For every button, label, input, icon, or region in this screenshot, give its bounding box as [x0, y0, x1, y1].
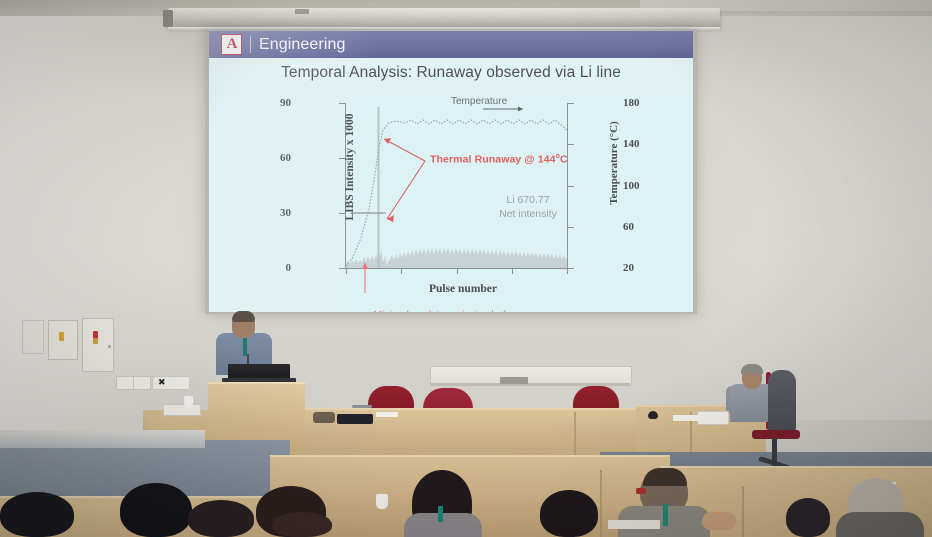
brand-divider: [250, 36, 251, 53]
right-ticklabel-140: 140: [623, 138, 663, 150]
cabinet-handle: [108, 345, 111, 348]
temperature-legend-label: Temperature: [451, 96, 507, 107]
paper-cup-1: [376, 494, 388, 509]
li-series-note: Li 670.77 Net intensity: [473, 193, 583, 221]
college-name: Engineering: [259, 36, 346, 54]
logo-letter: A: [227, 37, 237, 52]
screen-housing-endcap: [163, 10, 173, 27]
cup-on-side-table: [184, 396, 193, 407]
attendee-front-lanyard: [663, 504, 668, 526]
university-of-arizona-a-logo: A: [221, 34, 242, 55]
desk-papers: [376, 412, 398, 417]
wall-poster: [22, 320, 44, 354]
right-ticklabel-20: 20: [623, 262, 663, 274]
libs-intensity-series: [346, 107, 567, 268]
audience-head-7: [786, 498, 830, 537]
right-ticklabel-180: 180: [623, 97, 663, 109]
desk-cable: [352, 405, 372, 408]
whiteboard-ledge-object: [500, 377, 528, 384]
audience-shoulders-4: [404, 513, 482, 537]
wall-light-gradient-right: [672, 0, 932, 420]
slide-title: Temporal Analysis: Runaway observed via …: [209, 64, 693, 82]
speaker-lanyard: [243, 336, 247, 356]
switch-marking-icon: ✖: [158, 377, 166, 387]
light-switch-2[interactable]: [133, 376, 151, 390]
audience-shoulders-gray: [836, 512, 924, 537]
chart: 90 60 30 0 180 140 100 60 20 0 3000 6000: [301, 97, 593, 277]
runaway-text: Thermal Runaway @ 144: [430, 154, 556, 166]
temperature-leader-arrow: [518, 107, 523, 112]
runaway-unit-tail: C: [560, 154, 568, 166]
name-card: [697, 411, 729, 425]
light-switch-1[interactable]: [116, 376, 134, 390]
desk-seam-1: [574, 412, 576, 460]
attendee-hand: [702, 512, 736, 530]
audience-head-5: [272, 512, 332, 537]
audience-head-2: [188, 500, 254, 537]
lecture-hall-photo: ✖ A Engineering Temporal Analysis: Runaw…: [0, 0, 932, 537]
right-ticklabel-60: 60: [623, 221, 663, 233]
projector-screen-housing: [168, 8, 720, 28]
warning-sign-3-icon: [93, 338, 98, 344]
caption-line-1: Minimal analyte emission before: [301, 309, 593, 312]
audience-head-6: [540, 490, 598, 537]
runaway-arrowhead-upper: [384, 138, 391, 144]
audience-desk-seam-1: [600, 470, 602, 537]
left-ticklabel-90: 90: [251, 97, 291, 109]
slide-header-band: A Engineering: [209, 31, 693, 58]
minimal-emission-caption: Minimal analyte emission before thermal …: [301, 309, 593, 312]
audience-head-1: [120, 483, 192, 537]
audience-lanyard: [438, 506, 443, 522]
eyeglasses-icon: [636, 488, 646, 494]
desk-object-case: [337, 414, 373, 424]
left-ticklabel-30: 30: [251, 207, 291, 219]
attendee-front-hair: [643, 468, 687, 486]
speaker-hair: [232, 311, 255, 322]
audience-head-0: [0, 492, 74, 537]
table-microphone: [648, 411, 658, 419]
audience-desk-seam-2: [742, 486, 744, 537]
office-chair-back: [768, 370, 796, 432]
thermal-runaway-arrows: [384, 139, 425, 219]
table-papers: [673, 415, 699, 421]
lower-wall-panel: [0, 430, 205, 448]
paper-tray: [163, 404, 201, 416]
thermal-runaway-label: Thermal Runaway @ 144oC: [430, 153, 568, 166]
li-note-line-2: Net intensity: [473, 207, 583, 221]
attendee-hair: [741, 364, 763, 374]
screen-housing-bracket: [295, 9, 309, 14]
runaway-arrowhead-lower: [387, 215, 394, 222]
left-ticklabel-60: 60: [251, 152, 291, 164]
left-ticklabel-0: 0: [251, 262, 291, 274]
attendee-notes: [608, 520, 660, 529]
warning-sign-1-icon: [59, 332, 64, 341]
desk-object-camera: [313, 412, 335, 423]
brand-lockup: A Engineering: [221, 34, 346, 55]
wall-light-gradient-left: [0, 0, 200, 460]
projected-slide: A Engineering Temporal Analysis: Runaway…: [209, 31, 693, 312]
li-note-line-1: Li 670.77: [473, 193, 583, 207]
right-axis-title: Temperature (°C): [608, 88, 620, 238]
right-ticklabel-100: 100: [623, 180, 663, 192]
